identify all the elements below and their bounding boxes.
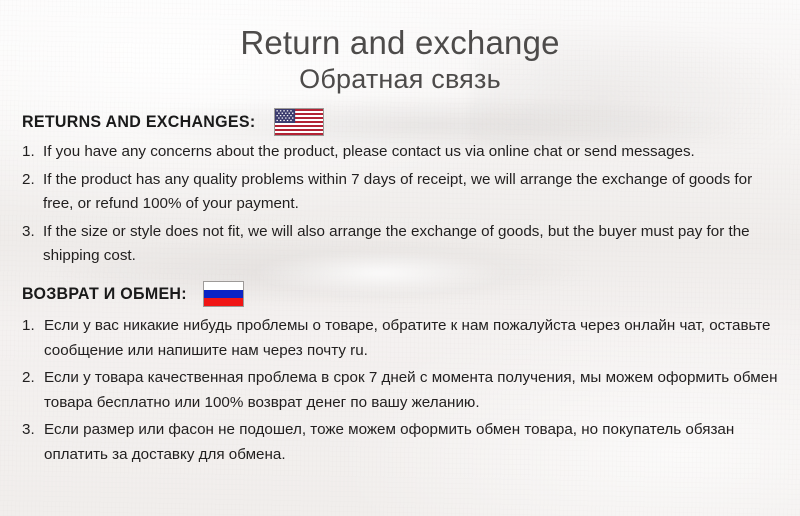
section-heading-row-english: RETURNS AND EXCHANGES: bbox=[22, 108, 778, 136]
section-returns-and-exchanges-russian: ВОЗВРАТ И ОБМЕН: 1. Если у вас никакие н… bbox=[22, 280, 778, 467]
list-item-number: 3. bbox=[22, 418, 35, 443]
list-item-number: 2. bbox=[22, 366, 35, 391]
page-title-block: Return and exchange Обратная связь bbox=[0, 24, 800, 95]
list-item-number: 1. bbox=[22, 140, 35, 165]
rules-list-english: 1. If you have any concerns about the pr… bbox=[22, 140, 778, 269]
rules-list-russian: 1. Если у вас никакие нибудь проблемы о … bbox=[22, 314, 778, 467]
section-returns-and-exchanges-english: RETURNS AND EXCHANGES: bbox=[22, 108, 778, 269]
page-title-english: Return and exchange bbox=[0, 24, 800, 62]
list-item-number: 1. bbox=[22, 314, 35, 339]
list-item: 3. Если размер или фасон не подошел, тож… bbox=[22, 418, 778, 467]
list-item-text: Если у вас никакие нибудь проблемы о тов… bbox=[44, 314, 778, 363]
list-item-text: If the size or style does not fit, we wi… bbox=[43, 220, 778, 269]
section-heading-row-russian: ВОЗВРАТ И ОБМЕН: bbox=[22, 280, 778, 308]
section-heading-russian: ВОЗВРАТ И ОБМЕН: bbox=[22, 285, 187, 304]
list-item-text: Если у товара качественная проблема в ср… bbox=[44, 366, 778, 415]
list-item-text: If the product has any quality problems … bbox=[43, 168, 778, 217]
us-flag-icon bbox=[274, 108, 324, 136]
ru-flag-icon bbox=[203, 281, 244, 307]
list-item-number: 3. bbox=[22, 220, 35, 245]
list-item: 3. If the size or style does not fit, we… bbox=[22, 220, 778, 269]
list-item: 2. If the product has any quality proble… bbox=[22, 168, 778, 217]
page-title-russian: Обратная связь bbox=[0, 63, 800, 95]
return-and-exchange-page: Return and exchange Обратная связь RETUR… bbox=[0, 0, 800, 516]
list-item: 1. If you have any concerns about the pr… bbox=[22, 140, 778, 165]
list-item-text: If you have any concerns about the produ… bbox=[43, 140, 778, 165]
list-item-text: Если размер или фасон не подошел, тоже м… bbox=[44, 418, 778, 467]
list-item: 1. Если у вас никакие нибудь проблемы о … bbox=[22, 314, 778, 363]
section-heading-english: RETURNS AND EXCHANGES: bbox=[22, 113, 255, 132]
list-item-number: 2. bbox=[22, 168, 35, 193]
list-item: 2. Если у товара качественная проблема в… bbox=[22, 366, 778, 415]
